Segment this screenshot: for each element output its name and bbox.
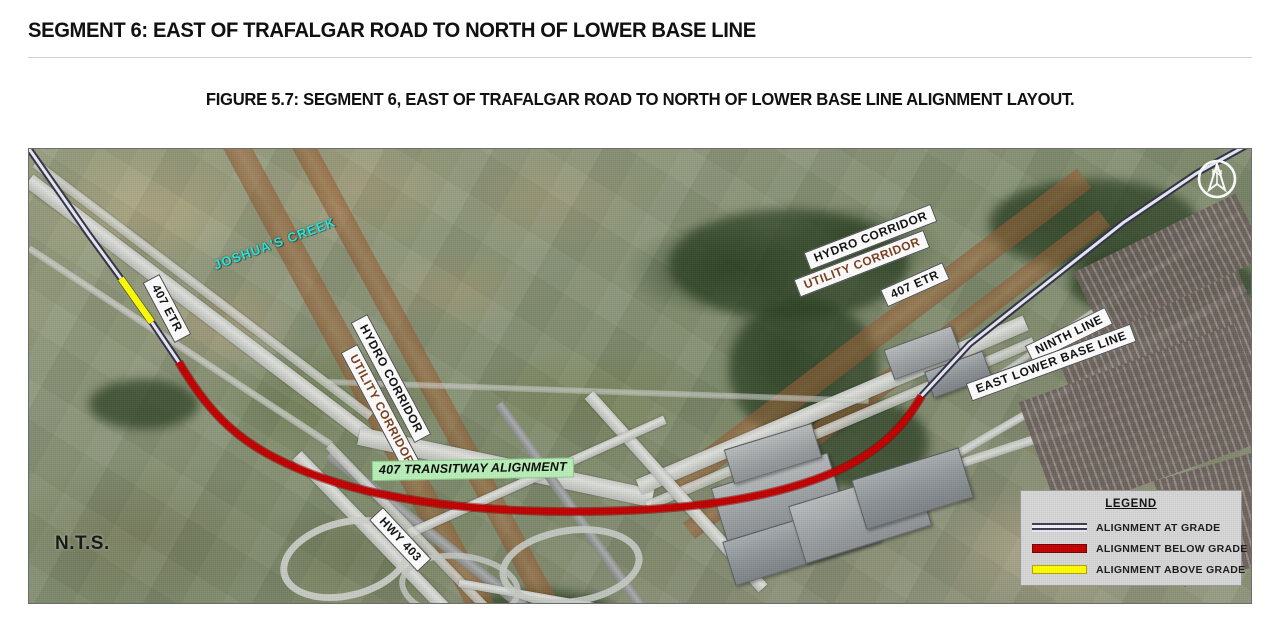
legend-title: LEGEND — [1021, 498, 1241, 510]
legend-row-above-grade: ALIGNMENT ABOVE GRADE — [1021, 559, 1241, 580]
legend-swatch-above-grade — [1032, 565, 1087, 574]
figure-caption-text: FIGURE 5.7: SEGMENT 6, EAST OF TRAFALGAR… — [206, 89, 1074, 110]
map-label-transitway-alignment: 407 TRANSITWAY ALIGNMENT — [372, 457, 574, 480]
map-legend: LEGEND ALIGNMENT AT GRADE ALIGNMENT BELO… — [1020, 490, 1242, 586]
legend-label-at-grade: ALIGNMENT AT GRADE — [1096, 522, 1220, 534]
legend-row-below-grade: ALIGNMENT BELOW GRADE — [1021, 538, 1241, 559]
map-scale-note: N.T.S. — [55, 534, 110, 553]
legend-label-above-grade: ALIGNMENT ABOVE GRADE — [1096, 564, 1245, 576]
north-arrow-icon — [1195, 157, 1239, 201]
figure-page: SEGMENT 6: EAST OF TRAFALGAR ROAD TO NOR… — [0, 0, 1280, 624]
figure-caption: FIGURE 5.7: SEGMENT 6, EAST OF TRAFALGAR… — [0, 89, 1280, 110]
section-title: SEGMENT 6: EAST OF TRAFALGAR ROAD TO NOR… — [28, 18, 756, 43]
legend-row-at-grade: ALIGNMENT AT GRADE — [1021, 517, 1241, 538]
aerial-map-figure: JOSHUA'S CREEK 407 ETR 407 ETR HYDRO COR… — [28, 148, 1252, 604]
title-divider — [28, 57, 1252, 58]
legend-swatch-below-grade — [1032, 544, 1087, 553]
legend-swatch-at-grade — [1032, 523, 1087, 532]
legend-label-below-grade: ALIGNMENT BELOW GRADE — [1096, 543, 1248, 555]
